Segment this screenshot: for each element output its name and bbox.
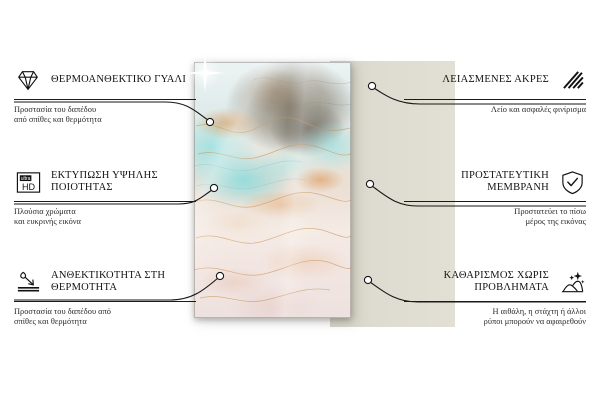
polished-edges-icon xyxy=(558,66,586,94)
glass-panel-product xyxy=(194,62,351,318)
divider xyxy=(14,301,196,302)
ultra-hd-icon: ultra HD xyxy=(14,168,42,196)
divider xyxy=(404,301,586,302)
shield-check-icon xyxy=(558,168,586,196)
feature-header: ΑΝΘΕΚΤΙΚΟΤΗΤΑ ΣΤΗ ΘΕΡΜΟΤΗΤΑ xyxy=(14,268,196,296)
feature-title: ΚΑΘΑΡΙΣΜΟΣ ΧΩΡΙΣ ΠΡΟΒΛΗΜΑΤΑ xyxy=(404,270,549,295)
feature-heat-resistance: ΑΝΘΕΚΤΙΚΟΤΗΤΑ ΣΤΗ ΘΕΡΜΟΤΗΤΑ Προστασία το… xyxy=(14,268,196,328)
feature-header: ΚΑΘΑΡΙΣΜΟΣ ΧΩΡΙΣ ΠΡΟΒΛΗΜΑΤΑ xyxy=(404,268,586,296)
desc-line-2: και ευκρινής εικόνα xyxy=(14,217,196,227)
feature-header: ultra HD ΕΚΤΥΠΩΣΗ ΥΨΗΛΗΣ ΠΟΙΟΤΗΤΑΣ xyxy=(14,168,196,196)
feature-title: ΑΝΘΕΚΤΙΚΟΤΗΤΑ ΣΤΗ ΘΕΡΜΟΤΗΤΑ xyxy=(51,270,196,295)
divider xyxy=(404,201,586,202)
feature-polished-edges: ΛΕΙΑΣΜΕΝΕΣ ΑΚΡΕΣ Λείο και ασφαλές φινίρι… xyxy=(404,66,586,115)
heat-resistant-icon xyxy=(14,268,42,296)
artwork-vein-detail xyxy=(194,62,351,318)
feature-high-quality-print: ultra HD ΕΚΤΥΠΩΣΗ ΥΨΗΛΗΣ ΠΟΙΟΤΗΤΑΣ Πλούσ… xyxy=(14,168,196,228)
feature-heat-resistant-glass: ΘΕΡΜΟΑΝΘΕΚΤΙΚΟ ΓΥΑΛΙ Προστασία του δαπέδ… xyxy=(14,66,196,126)
desc-line-1: Προστασία του δαπέδου από xyxy=(14,307,196,317)
feature-description: Προστατεύει το πίσω μέρος της εικόνας xyxy=(404,207,586,228)
divider xyxy=(14,201,196,202)
feature-title: ΠΡΟΣΤΑΤΕΥΤΙΚΗ ΜΕΜΒΡΑΝΗ xyxy=(404,170,549,195)
desc-line-1: Λείο και ασφαλές φινίρισμα xyxy=(404,105,586,115)
divider xyxy=(14,99,196,100)
feature-description: Προστασία του δαπέδου από σπίθες και θερ… xyxy=(14,307,196,328)
feature-protective-film: ΠΡΟΣΤΑΤΕΥΤΙΚΗ ΜΕΜΒΡΑΝΗ Προστατεύει το πί… xyxy=(404,168,586,228)
desc-line-2: ρύποι μπορούν να αφαιρεθούν xyxy=(404,317,586,327)
hd-label: HD xyxy=(21,181,35,191)
feature-header: ΛΕΙΑΣΜΕΝΕΣ ΑΚΡΕΣ xyxy=(404,66,586,94)
infographic-canvas: ΘΕΡΜΟΑΝΘΕΚΤΙΚΟ ΓΥΑΛΙ Προστασία του δαπέδ… xyxy=(0,0,600,400)
feature-description: Πλούσια χρώματα και ευκρινής εικόνα xyxy=(14,207,196,228)
feature-title: ΘΕΡΜΟΑΝΘΕΚΤΙΚΟ ΓΥΑΛΙ xyxy=(51,74,186,87)
desc-line-2: μέρος της εικόνας xyxy=(404,217,586,227)
desc-line-1: Προστατεύει το πίσω xyxy=(404,207,586,217)
diamond-icon xyxy=(14,66,42,94)
sparkle-clean-icon xyxy=(558,268,586,296)
desc-line-1: Πλούσια χρώματα xyxy=(14,207,196,217)
desc-line-2: σπίθες και θερμότητα xyxy=(14,317,196,327)
divider xyxy=(404,99,586,100)
feature-title: ΛΕΙΑΣΜΕΝΕΣ ΑΚΡΕΣ xyxy=(442,74,549,87)
feature-header: ΠΡΟΣΤΑΤΕΥΤΙΚΗ ΜΕΜΒΡΑΝΗ xyxy=(404,168,586,196)
feature-header: ΘΕΡΜΟΑΝΘΕΚΤΙΚΟ ΓΥΑΛΙ xyxy=(14,66,196,94)
feature-title: ΕΚΤΥΠΩΣΗ ΥΨΗΛΗΣ ΠΟΙΟΤΗΤΑΣ xyxy=(51,170,196,195)
feature-easy-cleaning: ΚΑΘΑΡΙΣΜΟΣ ΧΩΡΙΣ ΠΡΟΒΛΗΜΑΤΑ Η αιθάλη, η … xyxy=(404,268,586,328)
desc-line-2: από σπίθες και θερμότητα xyxy=(14,115,196,125)
desc-line-1: Η αιθάλη, η στάχτη ή άλλοι xyxy=(404,307,586,317)
desc-line-1: Προστασία του δαπέδου xyxy=(14,105,196,115)
feature-description: Λείο και ασφαλές φινίρισμα xyxy=(404,105,586,115)
feature-description: Προστασία του δαπέδου από σπίθες και θερ… xyxy=(14,105,196,126)
feature-description: Η αιθάλη, η στάχτη ή άλλοι ρύποι μπορούν… xyxy=(404,307,586,328)
